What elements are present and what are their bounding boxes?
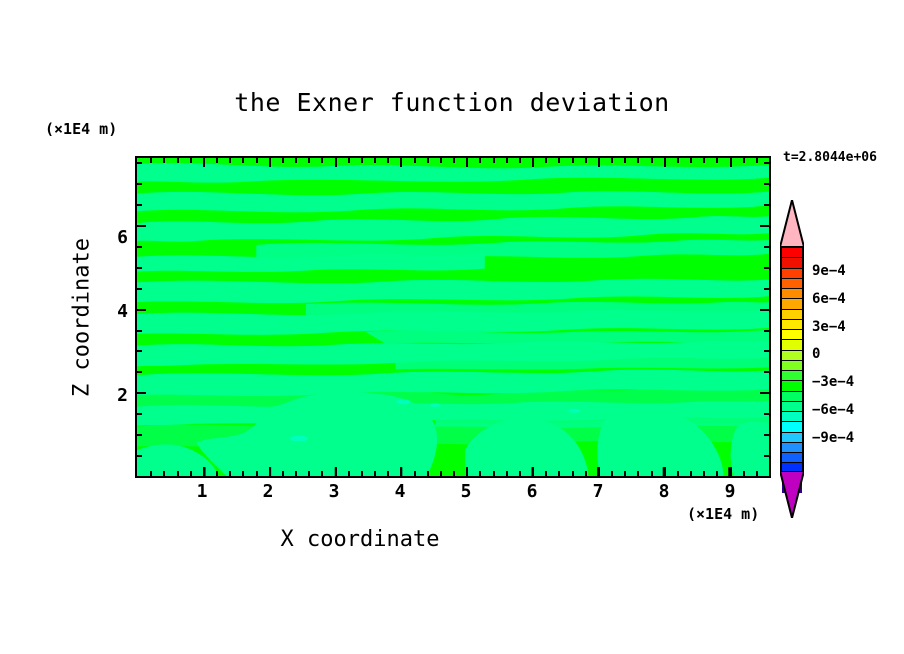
- x-minor-tick: [558, 471, 560, 476]
- y-minor-tick: [137, 267, 142, 269]
- colorbar-band: [782, 309, 802, 319]
- y-minor-tick: [764, 246, 769, 248]
- y-tick-label: 4: [88, 301, 128, 322]
- colorbar-bands: [780, 246, 804, 472]
- y-minor-tick: [764, 350, 769, 352]
- x-minor-tick: [387, 158, 389, 163]
- x-minor-tick: [703, 158, 705, 163]
- x-major-tick: [203, 467, 205, 476]
- y-major-tick: [137, 309, 146, 311]
- y-minor-tick: [137, 371, 142, 373]
- x-minor-tick: [348, 471, 350, 476]
- colorbar-tick-label: 3e−4: [812, 319, 846, 335]
- colorbar-tick-label: 9e−4: [812, 263, 846, 279]
- x-minor-tick: [427, 471, 429, 476]
- x-minor-tick: [651, 158, 653, 163]
- x-minor-tick: [440, 158, 442, 163]
- x-minor-tick: [256, 158, 258, 163]
- x-tick-label: 7: [578, 481, 618, 502]
- colorbar-band: [782, 421, 802, 431]
- x-minor-tick: [558, 158, 560, 163]
- x-minor-tick: [282, 158, 284, 163]
- x-minor-tick: [150, 471, 152, 476]
- x-major-tick: [730, 467, 732, 476]
- x-minor-tick: [295, 471, 297, 476]
- contour-plot-area: [135, 156, 771, 478]
- colorbar-band: [782, 248, 802, 257]
- x-major-tick: [466, 467, 468, 476]
- x-minor-tick: [163, 471, 165, 476]
- colorbar-bottom-arrow: [780, 471, 804, 518]
- x-minor-tick: [190, 471, 192, 476]
- x-minor-tick: [453, 471, 455, 476]
- colorbar-band: [782, 411, 802, 421]
- y-minor-tick: [764, 162, 769, 164]
- x-minor-tick: [216, 471, 218, 476]
- x-minor-tick: [624, 471, 626, 476]
- x-minor-tick: [479, 158, 481, 163]
- x-minor-tick: [677, 158, 679, 163]
- y-minor-tick: [137, 246, 142, 248]
- x-axis-title: X coordinate: [0, 527, 720, 552]
- x-minor-tick: [321, 471, 323, 476]
- x-minor-tick: [479, 471, 481, 476]
- x-minor-tick: [427, 158, 429, 163]
- x-major-tick: [730, 158, 732, 167]
- x-minor-tick: [387, 471, 389, 476]
- x-minor-tick: [177, 158, 179, 163]
- x-minor-tick: [519, 158, 521, 163]
- x-minor-tick: [545, 158, 547, 163]
- x-minor-tick: [321, 158, 323, 163]
- x-minor-tick: [414, 471, 416, 476]
- colorbar-band: [782, 360, 802, 370]
- page-title: the Exner function deviation: [0, 88, 904, 117]
- x-major-tick: [664, 158, 666, 167]
- x-minor-tick: [308, 158, 310, 163]
- x-minor-tick: [374, 471, 376, 476]
- x-minor-tick: [585, 471, 587, 476]
- y-minor-tick: [764, 434, 769, 436]
- x-major-tick: [664, 467, 666, 476]
- y-minor-tick: [137, 162, 142, 164]
- y-minor-tick: [764, 204, 769, 206]
- x-minor-tick: [756, 471, 758, 476]
- x-minor-tick: [743, 158, 745, 163]
- x-minor-tick: [493, 471, 495, 476]
- x-major-tick: [532, 158, 534, 167]
- x-tick-label: 3: [314, 481, 354, 502]
- y-minor-tick: [764, 455, 769, 457]
- y-minor-tick: [764, 413, 769, 415]
- y-minor-tick: [137, 183, 142, 185]
- colorbar-band: [782, 319, 802, 329]
- colorbar-band: [782, 268, 802, 278]
- x-minor-tick: [769, 471, 771, 476]
- x-minor-tick: [585, 158, 587, 163]
- x-minor-tick: [506, 158, 508, 163]
- x-minor-tick: [229, 158, 231, 163]
- y-major-tick: [760, 225, 769, 227]
- x-major-tick: [466, 158, 468, 167]
- y-major-tick: [760, 392, 769, 394]
- x-minor-tick: [361, 471, 363, 476]
- x-minor-tick: [611, 471, 613, 476]
- x-tick-label: 5: [446, 481, 486, 502]
- y-minor-tick: [764, 330, 769, 332]
- colorbar: 9e−46e−43e−40−3e−4−6e−4−9e−4: [778, 196, 898, 516]
- x-minor-tick: [651, 471, 653, 476]
- x-minor-tick: [703, 471, 705, 476]
- colorbar-tick-label: −6e−4: [812, 402, 854, 418]
- x-minor-tick: [374, 158, 376, 163]
- x-tick-label: 2: [248, 481, 288, 502]
- colorbar-band: [782, 370, 802, 380]
- x-minor-tick: [519, 471, 521, 476]
- x-minor-tick: [611, 158, 613, 163]
- y-minor-tick: [764, 267, 769, 269]
- x-minor-tick: [163, 158, 165, 163]
- x-minor-tick: [216, 158, 218, 163]
- x-minor-tick: [361, 158, 363, 163]
- colorbar-tick-label: −3e−4: [812, 374, 854, 390]
- x-minor-tick: [637, 471, 639, 476]
- colorbar-band: [782, 298, 802, 308]
- x-axis-unit-label: (×1E4 m): [687, 505, 759, 523]
- colorbar-band: [782, 442, 802, 452]
- colorbar-top-arrow: [780, 200, 804, 247]
- x-major-tick: [335, 467, 337, 476]
- colorbar-band: [782, 401, 802, 411]
- y-axis-unit-label: (×1E4 m): [45, 120, 117, 138]
- x-minor-tick: [637, 158, 639, 163]
- x-minor-tick: [242, 158, 244, 163]
- x-minor-tick: [150, 158, 152, 163]
- y-minor-tick: [137, 434, 142, 436]
- colorbar-band: [782, 339, 802, 349]
- colorbar-tick-label: 0: [812, 346, 820, 362]
- x-tick-label: 8: [644, 481, 684, 502]
- x-minor-tick: [756, 158, 758, 163]
- x-minor-tick: [177, 471, 179, 476]
- x-minor-tick: [282, 471, 284, 476]
- y-minor-tick: [764, 183, 769, 185]
- colorbar-band: [782, 452, 802, 462]
- x-tick-label: 4: [380, 481, 420, 502]
- y-major-tick: [760, 309, 769, 311]
- x-minor-tick: [716, 158, 718, 163]
- y-minor-tick: [137, 455, 142, 457]
- x-minor-tick: [229, 471, 231, 476]
- y-major-tick: [137, 225, 146, 227]
- x-major-tick: [598, 158, 600, 167]
- x-minor-tick: [308, 471, 310, 476]
- x-minor-tick: [572, 471, 574, 476]
- x-minor-tick: [690, 471, 692, 476]
- x-minor-tick: [690, 158, 692, 163]
- x-tick-label: 9: [710, 481, 750, 502]
- colorbar-tick-label: 6e−4: [812, 291, 846, 307]
- x-major-tick: [203, 158, 205, 167]
- x-major-tick: [532, 467, 534, 476]
- x-major-tick: [269, 158, 271, 167]
- colorbar-band: [782, 380, 802, 390]
- x-minor-tick: [545, 471, 547, 476]
- contour-field: [137, 158, 769, 476]
- y-major-tick: [137, 392, 146, 394]
- colorbar-band: [782, 278, 802, 288]
- y-tick-label: 6: [88, 227, 128, 248]
- y-minor-tick: [137, 350, 142, 352]
- x-minor-tick: [572, 158, 574, 163]
- x-minor-tick: [453, 158, 455, 163]
- x-minor-tick: [295, 158, 297, 163]
- x-minor-tick: [624, 158, 626, 163]
- x-minor-tick: [256, 471, 258, 476]
- x-minor-tick: [506, 471, 508, 476]
- x-minor-tick: [242, 471, 244, 476]
- colorbar-tick-label: −9e−4: [812, 430, 854, 446]
- colorbar-band: [782, 257, 802, 267]
- y-minor-tick: [137, 288, 142, 290]
- colorbar-band: [782, 288, 802, 298]
- x-minor-tick: [440, 471, 442, 476]
- x-tick-label: 1: [182, 481, 222, 502]
- x-major-tick: [400, 467, 402, 476]
- x-minor-tick: [716, 471, 718, 476]
- x-minor-tick: [743, 471, 745, 476]
- y-minor-tick: [137, 204, 142, 206]
- x-tick-label: 6: [512, 481, 552, 502]
- x-major-tick: [400, 158, 402, 167]
- y-minor-tick: [137, 413, 142, 415]
- x-minor-tick: [414, 158, 416, 163]
- y-minor-tick: [764, 371, 769, 373]
- x-major-tick: [598, 467, 600, 476]
- y-minor-tick: [137, 330, 142, 332]
- x-minor-tick: [677, 471, 679, 476]
- colorbar-band: [782, 391, 802, 401]
- timestamp-annotation: t=2.8044e+06: [783, 150, 877, 165]
- x-minor-tick: [190, 158, 192, 163]
- x-minor-tick: [493, 158, 495, 163]
- colorbar-band: [782, 329, 802, 339]
- colorbar-band: [782, 350, 802, 360]
- x-major-tick: [335, 158, 337, 167]
- y-minor-tick: [764, 288, 769, 290]
- colorbar-band: [782, 432, 802, 442]
- x-major-tick: [269, 467, 271, 476]
- x-minor-tick: [769, 158, 771, 163]
- y-tick-label: 2: [88, 385, 128, 406]
- x-minor-tick: [348, 158, 350, 163]
